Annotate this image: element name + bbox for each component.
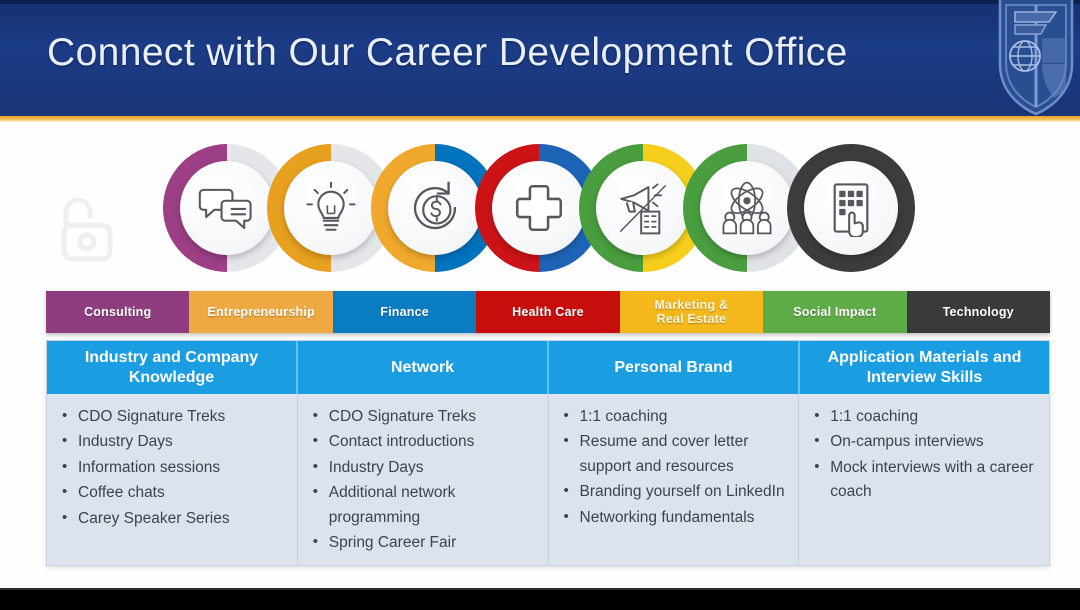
disc-health-care bbox=[492, 161, 586, 255]
list-item: CDO Signature Treks bbox=[308, 405, 540, 429]
column-header-application-materials: Application Materials and Interview Skil… bbox=[800, 341, 1049, 394]
disc-entrepreneurship bbox=[284, 161, 378, 255]
header-top-edge bbox=[0, 0, 1080, 4]
lightbulb-icon bbox=[302, 179, 360, 237]
list-item: Mock interviews with a career coach bbox=[809, 456, 1041, 505]
category-tab-marketing-line1: Marketing & bbox=[655, 298, 729, 312]
list-item: On-campus interviews bbox=[809, 430, 1041, 454]
megaphone-building-icon bbox=[614, 179, 672, 237]
list-item: Contact introductions bbox=[308, 430, 540, 454]
column-header-network: Network bbox=[298, 341, 549, 394]
bullet-list-industry-knowledge: CDO Signature Treks Industry Days Inform… bbox=[57, 405, 289, 531]
list-item: CDO Signature Treks bbox=[57, 405, 289, 429]
bullet-list-application-materials: 1:1 coaching On-campus interviews Mock i… bbox=[809, 405, 1041, 505]
people-network-icon bbox=[718, 179, 776, 237]
medical-cross-icon bbox=[510, 179, 568, 237]
category-tab-social-impact[interactable]: Social Impact bbox=[763, 291, 906, 333]
bullet-list-network: CDO Signature Treks Contact introduction… bbox=[308, 405, 540, 556]
list-item: Resume and cover letter support and reso… bbox=[559, 430, 791, 479]
category-tab-finance[interactable]: Finance bbox=[333, 291, 476, 333]
column-personal-brand: 1:1 coaching Resume and cover letter sup… bbox=[549, 394, 800, 565]
disc-social-impact bbox=[700, 161, 794, 255]
slide-canvas: Connect with Our Career Development Offi… bbox=[0, 0, 1080, 610]
column-network: CDO Signature Treks Contact introduction… bbox=[298, 394, 549, 565]
list-item: Additional network programming bbox=[308, 481, 540, 530]
list-item: 1:1 coaching bbox=[559, 405, 791, 429]
category-tab-health-care[interactable]: Health Care bbox=[476, 291, 619, 333]
services-table: Industry and Company Knowledge Network P… bbox=[46, 340, 1050, 566]
disc-finance bbox=[388, 161, 482, 255]
category-tab-marketing-real-estate[interactable]: Marketing & Real Estate bbox=[620, 291, 763, 333]
column-application-materials: 1:1 coaching On-campus interviews Mock i… bbox=[799, 394, 1049, 565]
category-tab-consulting[interactable]: Consulting bbox=[46, 291, 189, 333]
page-title: Connect with Our Career Development Offi… bbox=[47, 31, 848, 75]
list-item: Networking fundamentals bbox=[559, 506, 791, 530]
column-header-industry-knowledge: Industry and Company Knowledge bbox=[47, 341, 298, 394]
bottom-bar bbox=[0, 588, 1080, 610]
services-table-body: CDO Signature Treks Industry Days Inform… bbox=[47, 394, 1049, 565]
disc-consulting bbox=[180, 161, 274, 255]
list-item: Carey Speaker Series bbox=[57, 507, 289, 531]
category-tab-marketing-line2: Real Estate bbox=[657, 312, 727, 326]
disc-technology bbox=[804, 161, 898, 255]
column-header-personal-brand: Personal Brand bbox=[549, 341, 800, 394]
slide-body: Consulting Entrepreneurship Finance Heal… bbox=[0, 122, 1080, 588]
list-item: Industry Days bbox=[308, 456, 540, 480]
column-industry-knowledge: CDO Signature Treks Industry Days Inform… bbox=[47, 394, 298, 565]
category-tab-technology[interactable]: Technology bbox=[907, 291, 1050, 333]
jhu-shield-logo bbox=[994, 0, 1078, 116]
disc-marketing-real-estate bbox=[596, 161, 690, 255]
list-item: Industry Days bbox=[57, 430, 289, 454]
dollar-refresh-icon bbox=[406, 179, 464, 237]
unlocked-padlock-icon bbox=[50, 194, 122, 270]
bullet-list-personal-brand: 1:1 coaching Resume and cover letter sup… bbox=[559, 405, 791, 530]
list-item: Branding yourself on LinkedIn bbox=[559, 480, 791, 504]
slide-header: Connect with Our Career Development Offi… bbox=[0, 0, 1080, 116]
tablet-touch-icon bbox=[822, 179, 880, 237]
services-table-header-row: Industry and Company Knowledge Network P… bbox=[47, 341, 1049, 394]
chain-node-technology bbox=[787, 144, 915, 272]
list-item: Spring Career Fair bbox=[308, 531, 540, 555]
list-item: Coffee chats bbox=[57, 481, 289, 505]
list-item: Information sessions bbox=[57, 456, 289, 480]
industry-circle-chain bbox=[163, 144, 918, 279]
speech-bubbles-icon bbox=[198, 179, 256, 237]
category-tab-bar[interactable]: Consulting Entrepreneurship Finance Heal… bbox=[46, 291, 1050, 333]
category-tab-entrepreneurship[interactable]: Entrepreneurship bbox=[189, 291, 332, 333]
bottom-bar-highlight bbox=[0, 588, 1080, 590]
list-item: 1:1 coaching bbox=[809, 405, 1041, 429]
